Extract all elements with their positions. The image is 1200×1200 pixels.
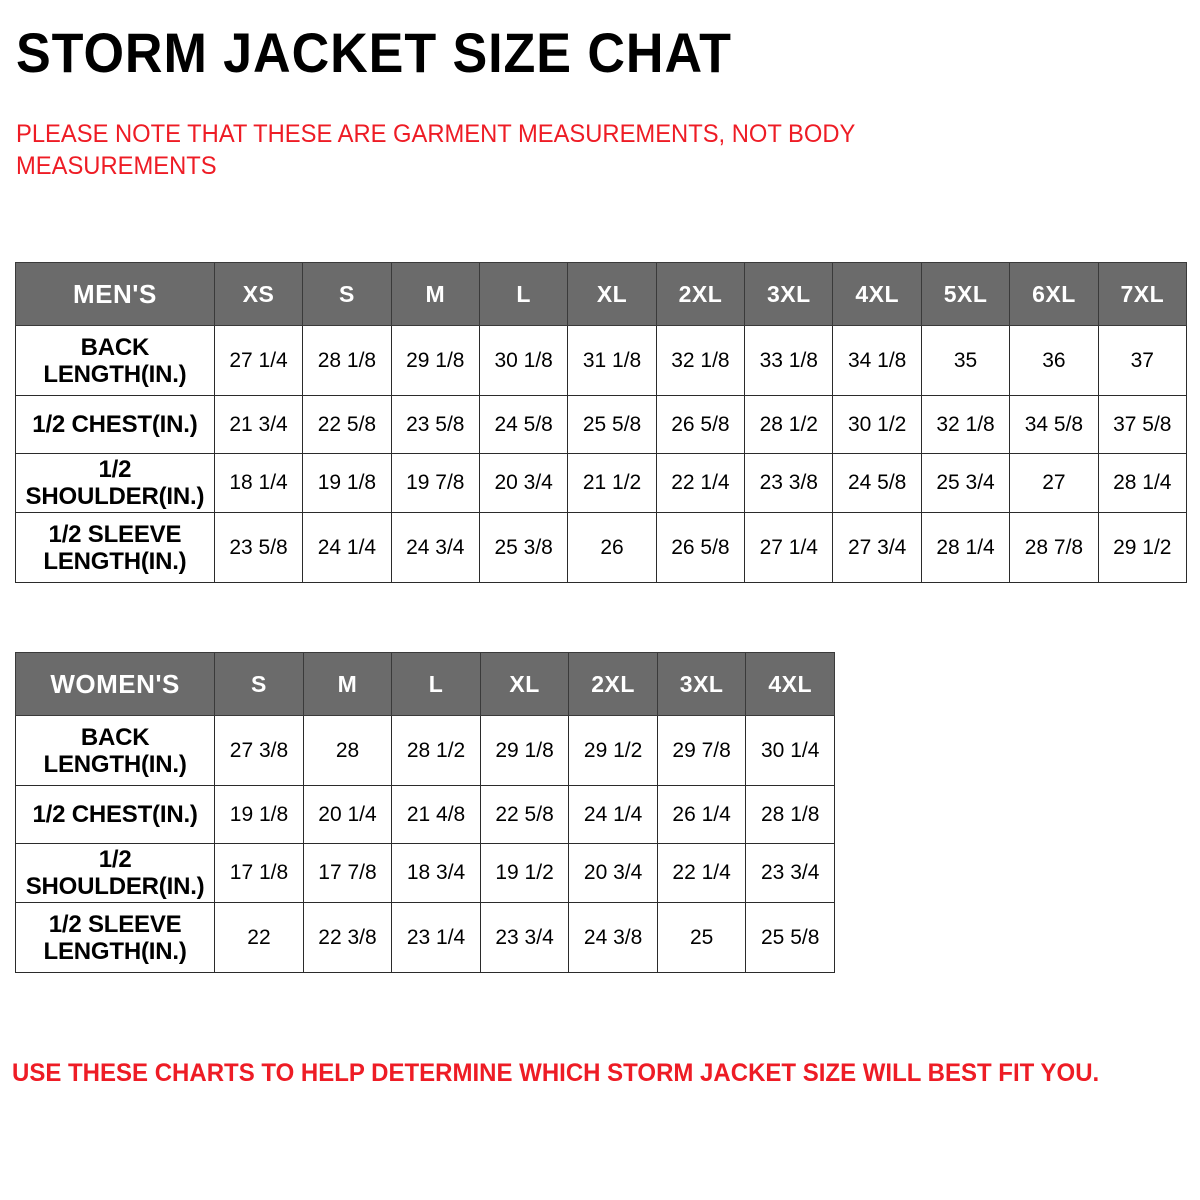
measurement-cell: 20 3/4 [569,844,658,903]
measurement-cell: 24 1/4 [303,513,391,583]
measurement-cell: 27 [1010,454,1098,513]
measurement-cell: 28 1/4 [921,513,1009,583]
measurement-cell: 32 1/8 [656,326,744,396]
measurement-label-line2: LENGTH(IN.) [19,548,211,575]
measurement-cell: 17 7/8 [303,844,392,903]
measurement-cell: 29 1/8 [391,326,479,396]
measurement-cell: 23 1/4 [392,903,481,973]
table-row: 1/2 CHEST(IN.)19 1/820 1/421 4/822 5/824… [16,786,835,844]
measurement-cell: 17 1/8 [215,844,304,903]
womens-header-row: WOMEN'SSMLXL2XL3XL4XL [16,653,835,716]
measurement-cell: 26 5/8 [656,396,744,454]
measurement-cell: 26 1/4 [657,786,746,844]
measurement-cell: 22 1/4 [657,844,746,903]
measurement-cell: 29 1/8 [480,716,569,786]
womens-measurement-label: 1/2 SLEEVELENGTH(IN.) [16,903,215,973]
mens-table-corner-header: MEN'S [16,263,215,326]
measurement-cell: 19 1/8 [215,786,304,844]
measurement-cell: 31 1/8 [568,326,656,396]
table-row: 1/2 SLEEVELENGTH(IN.)2222 3/823 1/423 3/… [16,903,835,973]
womens-measurement-label: 1/2 CHEST(IN.) [16,786,215,844]
measurement-cell: 28 1/2 [392,716,481,786]
measurement-cell: 25 3/4 [921,454,1009,513]
measurement-cell: 25 5/8 [568,396,656,454]
measurement-cell: 22 1/4 [656,454,744,513]
mens-size-header-m: M [391,263,479,326]
mens-measurement-label: 1/2 SHOULDER(IN.) [16,454,215,513]
mens-size-header-s: S [303,263,391,326]
womens-table-corner-header: WOMEN'S [16,653,215,716]
table-row: 1/2 SHOULDER(IN.)18 1/419 1/819 7/820 3/… [16,454,1187,513]
mens-size-header-xs: XS [214,263,302,326]
mens-table-body: BACKLENGTH(IN.)27 1/428 1/829 1/830 1/83… [16,326,1187,583]
mens-size-table: MEN'SXSSMLXL2XL3XL4XL5XL6XL7XL BACKLENGT… [15,262,1187,583]
measurement-label-line1: BACK [19,334,211,361]
measurement-cell: 34 1/8 [833,326,921,396]
measurement-cell: 26 5/8 [656,513,744,583]
mens-size-header-4xl: 4XL [833,263,921,326]
womens-table-head: WOMEN'SSMLXL2XL3XL4XL [16,653,835,716]
measurement-cell: 26 [568,513,656,583]
measurement-cell: 28 1/4 [1098,454,1186,513]
garment-measurement-note: PLEASE NOTE THAT THESE ARE GARMENT MEASU… [16,118,966,182]
womens-measurement-label: 1/2 SHOULDER(IN.) [16,844,215,903]
measurement-cell: 37 [1098,326,1186,396]
measurement-cell: 34 5/8 [1010,396,1098,454]
mens-measurement-label: 1/2 SLEEVELENGTH(IN.) [16,513,215,583]
womens-size-header-2xl: 2XL [569,653,658,716]
measurement-cell: 24 1/4 [569,786,658,844]
measurement-cell: 20 3/4 [479,454,567,513]
measurement-label-line2: LENGTH(IN.) [19,938,211,965]
footer-note: USE THESE CHARTS TO HELP DETERMINE WHICH… [12,1058,1145,1088]
measurement-label-line2: LENGTH(IN.) [19,751,211,778]
measurement-cell: 23 3/4 [480,903,569,973]
measurement-cell: 25 3/8 [479,513,567,583]
measurement-cell: 24 5/8 [479,396,567,454]
measurement-cell: 36 [1010,326,1098,396]
womens-size-header-4xl: 4XL [746,653,835,716]
measurement-cell: 23 3/8 [745,454,833,513]
measurement-cell: 18 1/4 [214,454,302,513]
measurement-cell: 19 7/8 [391,454,479,513]
measurement-cell: 19 1/2 [480,844,569,903]
womens-size-header-3xl: 3XL [657,653,746,716]
measurement-cell: 27 3/4 [833,513,921,583]
measurement-cell: 18 3/4 [392,844,481,903]
measurement-cell: 23 5/8 [391,396,479,454]
womens-size-header-m: M [303,653,392,716]
measurement-cell: 23 5/8 [214,513,302,583]
measurement-cell: 28 1/8 [303,326,391,396]
table-row: BACKLENGTH(IN.)27 1/428 1/829 1/830 1/83… [16,326,1187,396]
measurement-cell: 30 1/8 [479,326,567,396]
table-row: 1/2 SHOULDER(IN.)17 1/817 7/818 3/419 1/… [16,844,835,903]
measurement-cell: 28 1/2 [745,396,833,454]
table-row: 1/2 SLEEVELENGTH(IN.)23 5/824 1/424 3/42… [16,513,1187,583]
measurement-cell: 33 1/8 [745,326,833,396]
measurement-cell: 20 1/4 [303,786,392,844]
mens-size-header-6xl: 6XL [1010,263,1098,326]
measurement-cell: 28 7/8 [1010,513,1098,583]
page-title: STORM JACKET SIZE CHAT [16,22,732,84]
womens-measurement-label: BACKLENGTH(IN.) [16,716,215,786]
mens-size-header-l: L [479,263,567,326]
measurement-cell: 28 [303,716,392,786]
measurement-cell: 35 [921,326,1009,396]
womens-size-table: WOMEN'SSMLXL2XL3XL4XL BACKLENGTH(IN.)27 … [15,652,835,973]
mens-header-row: MEN'SXSSMLXL2XL3XL4XL5XL6XL7XL [16,263,1187,326]
mens-size-header-3xl: 3XL [745,263,833,326]
table-row: 1/2 CHEST(IN.)21 3/422 5/823 5/824 5/825… [16,396,1187,454]
measurement-cell: 24 3/8 [569,903,658,973]
measurement-cell: 22 [215,903,304,973]
measurement-cell: 23 3/4 [746,844,835,903]
measurement-cell: 30 1/4 [746,716,835,786]
measurement-cell: 32 1/8 [921,396,1009,454]
measurement-cell: 19 1/8 [303,454,391,513]
measurement-cell: 29 1/2 [1098,513,1186,583]
measurement-cell: 37 5/8 [1098,396,1186,454]
measurement-cell: 27 3/8 [215,716,304,786]
mens-table-head: MEN'SXSSMLXL2XL3XL4XL5XL6XL7XL [16,263,1187,326]
measurement-cell: 27 1/4 [214,326,302,396]
measurement-cell: 22 3/8 [303,903,392,973]
measurement-cell: 27 1/4 [745,513,833,583]
measurement-cell: 21 3/4 [214,396,302,454]
mens-size-header-2xl: 2XL [656,263,744,326]
womens-size-header-xl: XL [480,653,569,716]
mens-measurement-label: BACKLENGTH(IN.) [16,326,215,396]
measurement-cell: 21 4/8 [392,786,481,844]
measurement-cell: 29 1/2 [569,716,658,786]
measurement-cell: 24 5/8 [833,454,921,513]
measurement-label-line1: 1/2 SLEEVE [19,911,211,938]
measurement-label-line1: 1/2 SLEEVE [19,521,211,548]
measurement-cell: 29 7/8 [657,716,746,786]
measurement-cell: 28 1/8 [746,786,835,844]
measurement-label-line1: BACK [19,724,211,751]
mens-size-header-7xl: 7XL [1098,263,1186,326]
measurement-cell: 25 [657,903,746,973]
measurement-cell: 24 3/4 [391,513,479,583]
mens-size-header-xl: XL [568,263,656,326]
measurement-cell: 22 5/8 [480,786,569,844]
womens-size-header-s: S [215,653,304,716]
measurement-cell: 30 1/2 [833,396,921,454]
measurement-label-line2: LENGTH(IN.) [19,361,211,388]
size-chart-page: STORM JACKET SIZE CHAT PLEASE NOTE THAT … [0,0,1200,1200]
womens-size-header-l: L [392,653,481,716]
measurement-cell: 21 1/2 [568,454,656,513]
mens-measurement-label: 1/2 CHEST(IN.) [16,396,215,454]
table-row: BACKLENGTH(IN.)27 3/82828 1/229 1/829 1/… [16,716,835,786]
mens-size-header-5xl: 5XL [921,263,1009,326]
measurement-cell: 22 5/8 [303,396,391,454]
measurement-cell: 25 5/8 [746,903,835,973]
womens-table-body: BACKLENGTH(IN.)27 3/82828 1/229 1/829 1/… [16,716,835,973]
